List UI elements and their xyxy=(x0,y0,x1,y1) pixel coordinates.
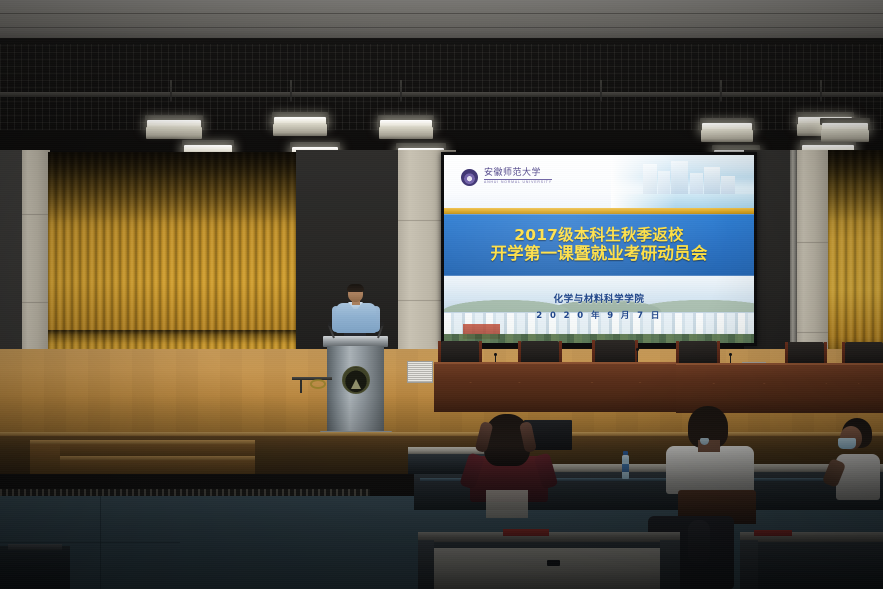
front-row-desk-top xyxy=(432,548,660,589)
slide-title-line-1: 2017级本科生秋季返校 xyxy=(514,227,684,244)
audience-member xyxy=(458,414,558,510)
audience-member-top xyxy=(666,446,754,494)
ceiling-concrete-beam xyxy=(0,0,883,40)
light-hanger-rod xyxy=(290,80,292,102)
podium-microphone-head xyxy=(380,322,384,326)
slide-footer: 化学与材料科学学院 2 0 2 0 年 9 月 7 日 xyxy=(444,276,754,343)
red-booklet xyxy=(503,529,549,536)
table-microphone xyxy=(730,355,731,363)
ceiling-truss-grid xyxy=(300,44,600,130)
slide-title-line-2: 开学第一课暨就业考研动员会 xyxy=(490,245,707,263)
red-booklet xyxy=(754,530,792,536)
front-row-desk-front xyxy=(740,540,883,589)
auditorium-seat-block xyxy=(0,546,70,589)
front-row-desk-ledge xyxy=(418,532,680,542)
university-logo: 安徽师范大学 ANHUI NORMAL UNIVERSITY xyxy=(461,169,552,186)
cable-coil xyxy=(310,379,326,389)
mobile-phone xyxy=(547,560,560,566)
head-table-chair xyxy=(788,342,824,363)
audience-member xyxy=(824,418,880,500)
audience-member-jacket xyxy=(486,490,528,518)
water-bottle xyxy=(622,455,629,479)
head-table-panel xyxy=(802,363,883,413)
light-hanger-rod xyxy=(600,80,602,102)
auditorium-photo: 安徽师范大学 ANHUI NORMAL UNIVERSITY 2017级本科生秋… xyxy=(0,0,883,589)
head-table-chair xyxy=(521,341,559,363)
front-row-desk-divider xyxy=(740,540,758,589)
header-campus-photo xyxy=(611,155,754,208)
face-mask xyxy=(838,438,856,449)
university-crest-emblem xyxy=(342,366,370,394)
auditorium-seat-arm xyxy=(8,544,62,550)
pillar-metal-trim xyxy=(790,150,797,362)
audience-member-top xyxy=(836,454,880,500)
wall-air-vent xyxy=(407,361,433,383)
podium-microphone-head xyxy=(328,322,332,326)
light-hanger-rod xyxy=(170,80,172,102)
front-row-desk-divider xyxy=(660,540,680,589)
head-table-panel xyxy=(434,362,556,412)
head-table-panel xyxy=(556,362,676,412)
audience-member xyxy=(662,404,758,496)
university-seal-icon xyxy=(461,169,478,186)
presenter-glasses-icon xyxy=(349,291,362,294)
head-table-chair xyxy=(845,342,883,363)
head-table-chair xyxy=(679,341,717,363)
light-hanger-rod xyxy=(400,80,402,102)
stone-pillar-right xyxy=(797,150,829,362)
speaking-podium xyxy=(327,336,384,446)
university-name-en: ANHUI NORMAL UNIVERSITY xyxy=(484,181,552,184)
light-hanger-rod xyxy=(820,80,822,102)
front-row-desk-divider xyxy=(418,540,434,589)
presentation-slide: 安徽师范大学 ANHUI NORMAL UNIVERSITY 2017级本科生秋… xyxy=(444,155,754,343)
slide-title-band: 2017级本科生秋季返校 开学第一课暨就业考研动员会 xyxy=(444,214,754,276)
head-table-chair xyxy=(595,340,635,363)
table-microphone xyxy=(637,350,638,362)
slide-organization: 化学与材料科学学院 xyxy=(554,291,645,305)
slide-header: 安徽师范大学 ANHUI NORMAL UNIVERSITY xyxy=(444,155,754,208)
stage-curtain-right xyxy=(828,150,883,362)
light-hanger-rod xyxy=(720,80,722,102)
head-table-chair xyxy=(441,341,479,363)
slide-date: 2 0 2 0 年 9 月 7 日 xyxy=(536,309,661,321)
university-name-cn: 安徽师范大学 xyxy=(484,169,552,178)
projection-screen: 安徽师范大学 ANHUI NORMAL UNIVERSITY 2017级本科生秋… xyxy=(441,152,757,346)
stage-side-table-leg xyxy=(300,379,302,393)
stage-steps xyxy=(0,440,255,492)
backpack-strap xyxy=(688,520,710,564)
ceiling-beam xyxy=(0,92,883,97)
